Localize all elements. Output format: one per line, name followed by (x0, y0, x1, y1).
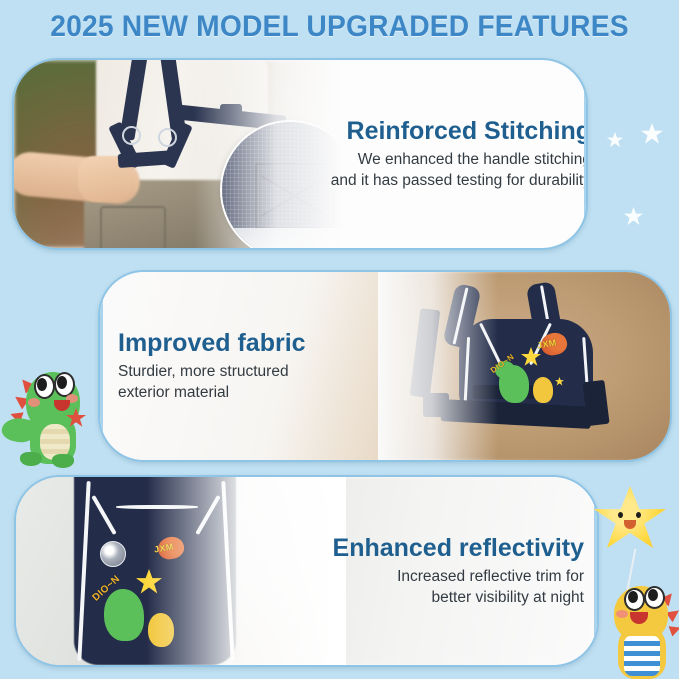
dinosaur-graphic-green (104, 589, 144, 641)
feature-description-line: Sturdier, more structured (118, 362, 289, 383)
feature-image-improved-fabric: JXM DIO~N (378, 272, 670, 460)
page-title: 2025 NEW MODEL UPGRADED FEATURES (20, 10, 658, 44)
feature-text-reinforced-stitching: Reinforced Stitching We enhanced the han… (329, 60, 588, 248)
feature-description-line: exterior material (118, 383, 229, 404)
feature-title: Improved fabric (118, 329, 306, 357)
feature-text-enhanced-reflectivity: Enhanced reflectivity Increased reflecti… (316, 477, 584, 665)
dinosaur-graphic-yellow (533, 377, 553, 403)
star-eye (636, 512, 641, 518)
feature-card-improved-fabric[interactable]: JXM DIO~N Improved fabric Sturdier, more… (98, 270, 672, 462)
card-divider (584, 68, 586, 240)
feature-image-enhanced-reflectivity: JXM DIO~N (16, 477, 346, 665)
background-star-mid-right (624, 207, 643, 226)
feature-image-reinforced-stitching (14, 60, 344, 248)
reflective-badge (100, 541, 126, 567)
striped-shirt (624, 636, 660, 676)
feature-description-line: Increased reflective trim for (397, 567, 584, 588)
feature-title: Reinforced Stitching (347, 117, 588, 145)
feature-title: Enhanced reflectivity (333, 534, 584, 562)
card-divider (100, 282, 103, 450)
feature-description-line: We enhanced the handle stitching (358, 150, 588, 171)
infographic-canvas: 2025 NEW MODEL UPGRADED FEATURES (0, 0, 679, 679)
background-star-top-right (641, 123, 663, 145)
yellow-star-balloon (594, 486, 666, 552)
harness-d-ring (122, 126, 141, 145)
feature-card-enhanced-reflectivity[interactable]: JXM DIO~N Enhanced reflectivity Increase… (14, 475, 599, 667)
feature-description-line: better visibility at night (432, 588, 585, 609)
star-eye (618, 512, 623, 518)
feature-text-improved-fabric: Improved fabric Sturdier, more structure… (118, 272, 388, 460)
feature-card-reinforced-stitching[interactable]: Reinforced Stitching We enhanced the han… (12, 58, 588, 250)
yellow-dinosaur-mascot (600, 578, 679, 679)
background-star-upper-right (607, 132, 623, 148)
feature-description-line: and it has passed testing for durability (331, 171, 588, 192)
harness-d-ring (158, 128, 177, 147)
green-dinosaur-mascot (4, 352, 100, 470)
